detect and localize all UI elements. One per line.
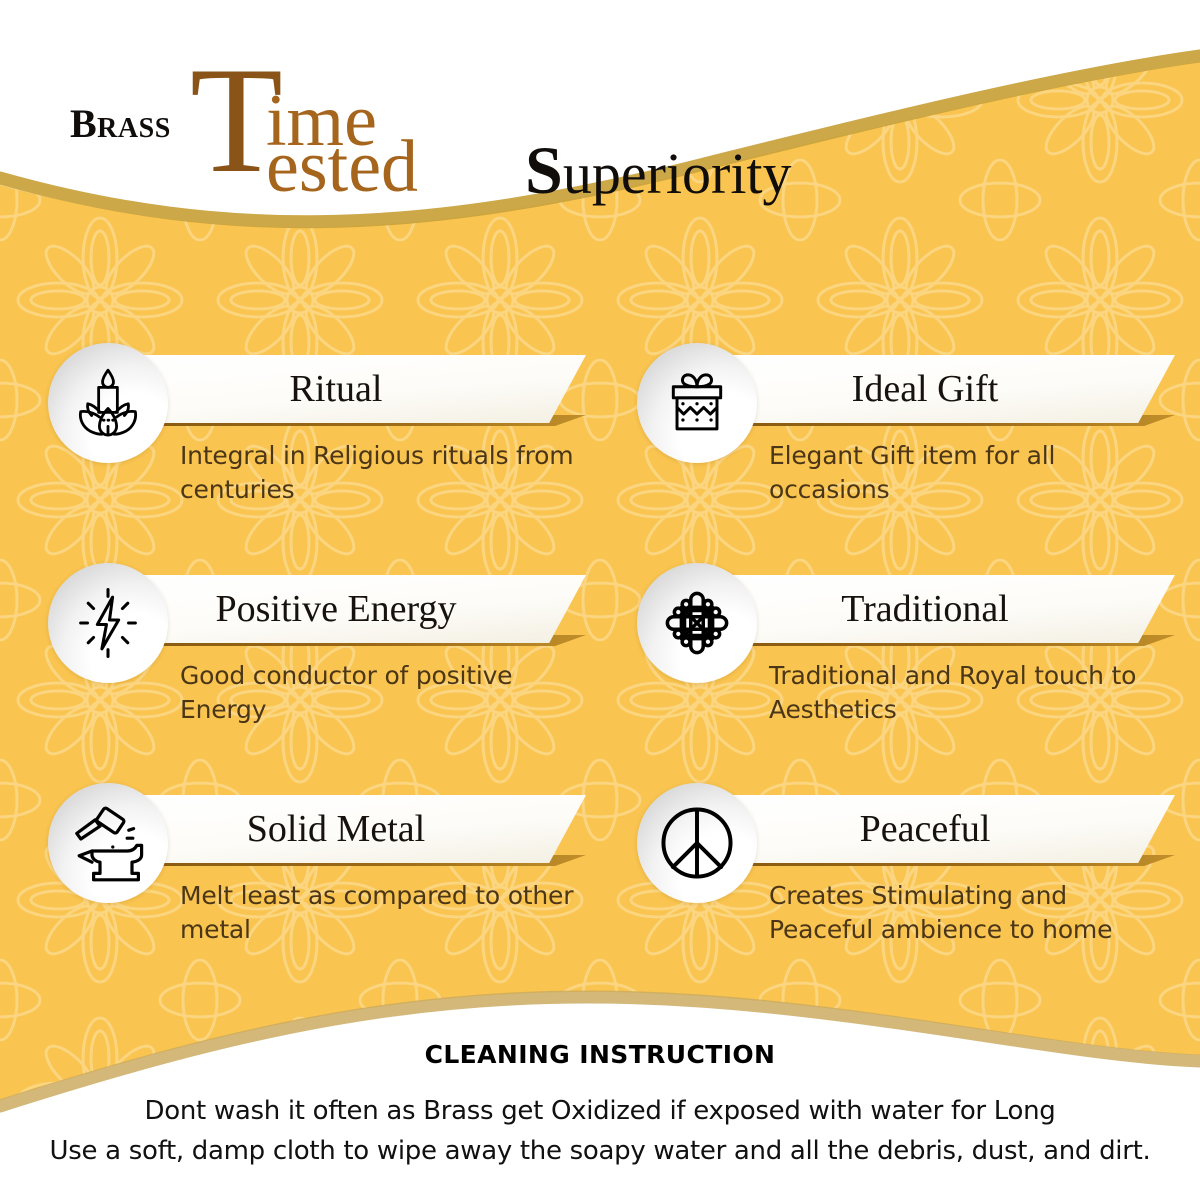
hammer-anvil-icon [48, 783, 168, 903]
feature-card-ritual[interactable]: Ritual Integral in Religious rituals fro… [48, 343, 593, 548]
lightning-bolt-icon [48, 563, 168, 683]
cleaning-instruction-footer: CLEANING INSTRUCTION Dont wash it often … [0, 1040, 1200, 1171]
endless-knot-icon [637, 563, 757, 683]
feature-card-traditional[interactable]: Traditional Traditional and Royal touch … [637, 563, 1182, 768]
footer-heading: CLEANING INSTRUCTION [0, 1040, 1200, 1069]
footer-line-1: Dont wash it often as Brass get Oxidized… [0, 1091, 1200, 1131]
feature-card-peaceful[interactable]: Peaceful Creates Stimulating and Peacefu… [637, 783, 1182, 1033]
gift-box-icon [637, 343, 757, 463]
feature-description: Integral in Religious rituals from centu… [180, 439, 580, 507]
peace-sign-icon [637, 783, 757, 903]
banner-solid-metal: Solid Metal [126, 795, 586, 863]
feature-card-positive-energy[interactable]: Positive Energy Good conductor of positi… [48, 563, 593, 768]
candle-lotus-icon [48, 343, 168, 463]
feature-description: Elegant Gift item for all occasions [769, 439, 1169, 507]
feature-card-ideal-gift[interactable]: Ideal Gift Elegant Gift item for all occ… [637, 343, 1182, 548]
feature-title: Ritual [126, 355, 546, 423]
banner-positive-energy: Positive Energy [126, 575, 586, 643]
infographic-page: Brass T ime ested Superiority [0, 0, 1200, 1200]
feature-grid: Ritual Integral in Religious rituals fro… [0, 0, 1200, 1200]
banner-ideal-gift: Ideal Gift [715, 355, 1175, 423]
banner-peaceful: Peaceful [715, 795, 1175, 863]
feature-description: Good conductor of positive Energy [180, 659, 580, 727]
feature-card-solid-metal[interactable]: Solid Metal Melt least as compared to ot… [48, 783, 593, 988]
feature-title: Ideal Gift [715, 355, 1135, 423]
banner-ritual: Ritual [126, 355, 586, 423]
feature-title: Solid Metal [126, 795, 546, 863]
feature-title: Peaceful [715, 795, 1135, 863]
feature-title: Positive Energy [126, 575, 546, 643]
feature-title: Traditional [715, 575, 1135, 643]
banner-traditional: Traditional [715, 575, 1175, 643]
feature-description: Traditional and Royal touch to Aesthetic… [769, 659, 1169, 727]
feature-description: Melt least as compared to other metal [180, 879, 580, 947]
footer-body: Dont wash it often as Brass get Oxidized… [0, 1091, 1200, 1171]
footer-line-2: Use a soft, damp cloth to wipe away the … [0, 1131, 1200, 1171]
feature-description: Creates Stimulating and Peaceful ambienc… [769, 879, 1139, 947]
